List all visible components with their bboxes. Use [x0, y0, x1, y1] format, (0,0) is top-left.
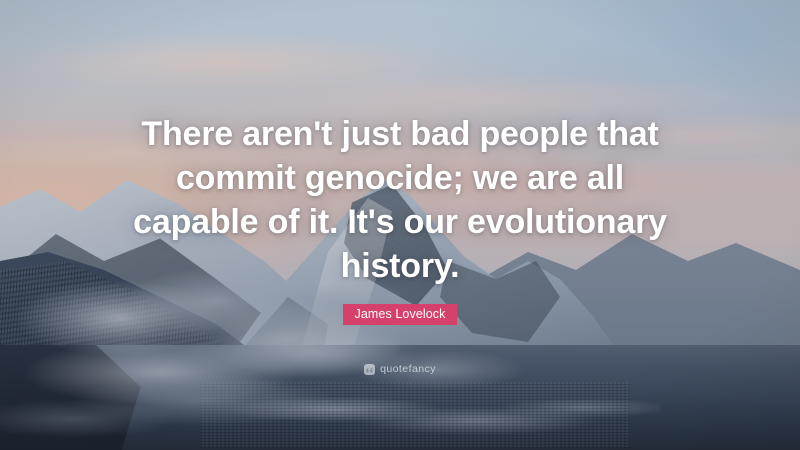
author-badge: James Lovelock	[343, 304, 456, 325]
quote-card: There aren't just bad people that commit…	[0, 0, 800, 450]
quote-content: There aren't just bad people that commit…	[0, 0, 800, 450]
quote-text: There aren't just bad people that commit…	[120, 112, 680, 288]
